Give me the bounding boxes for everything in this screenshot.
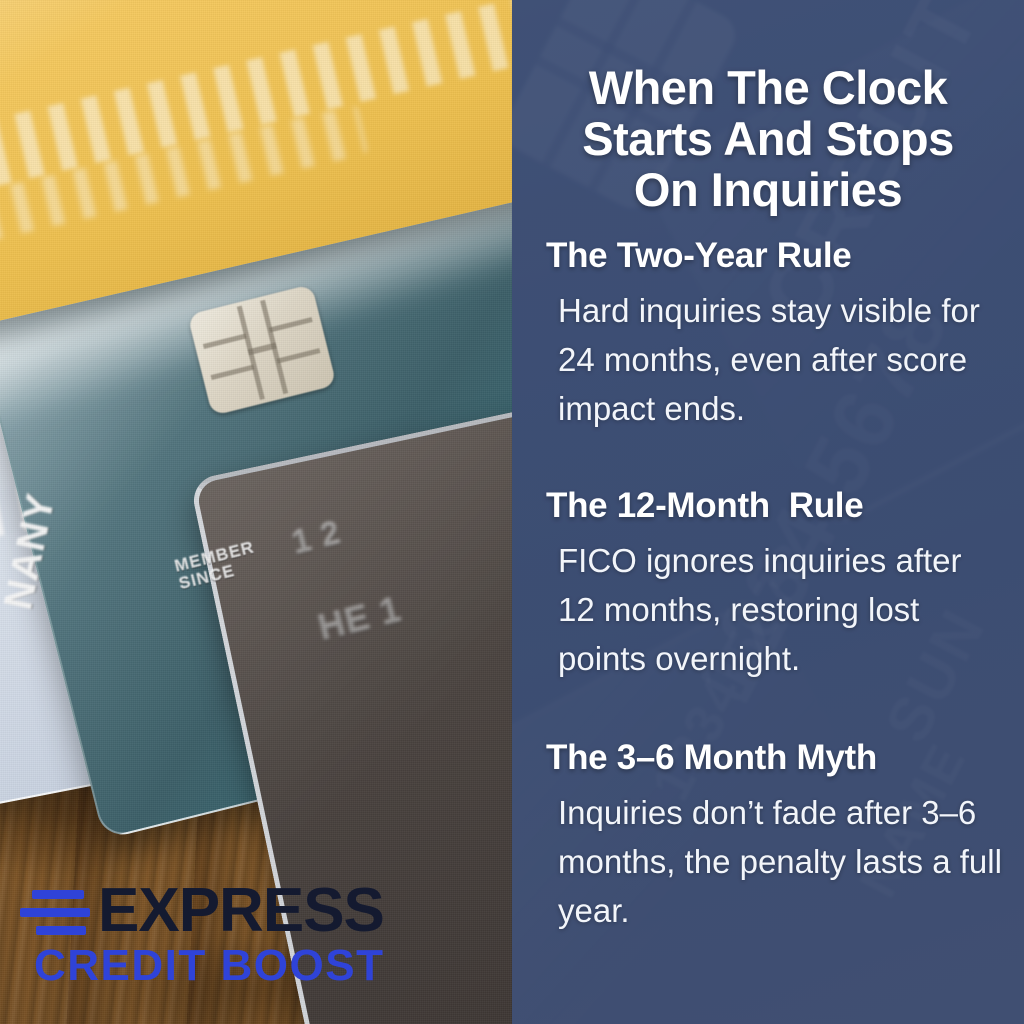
- section-heading: The Two-Year Rule: [546, 236, 1024, 275]
- brand-logo[interactable]: EXPRESS CREDIT BOOST: [20, 882, 420, 991]
- section-two-year-rule: The Two-Year Rule Hard inquiries stay vi…: [512, 236, 1024, 434]
- infographic-canvas: MEMBER SINCE 1 2 HE 1 NANY 34 EXPRESS CR…: [0, 0, 1024, 1024]
- section-twelve-month-rule: The 12-Month Rule FICO ignores inquiries…: [512, 486, 1024, 684]
- content-panel: CREDIT 1234 5678 1234 5678 SUN NAME When…: [512, 0, 1024, 1024]
- logo-primary-text: EXPRESS: [98, 882, 384, 939]
- section-body: FICO ignores inquiries after 12 months, …: [558, 537, 1006, 683]
- speed-lines-icon: [20, 886, 90, 935]
- logo-secondary-text: CREDIT BOOST: [34, 941, 420, 991]
- page-title: When The Clock Starts And Stops On Inqui…: [512, 63, 1024, 215]
- credit-cards-photo: MEMBER SINCE 1 2 HE 1 NANY 34: [0, 0, 512, 1024]
- section-three-six-month-myth: The 3–6 Month Myth Inquiries don’t fade …: [512, 738, 1024, 936]
- section-heading: The 3–6 Month Myth: [546, 738, 1024, 777]
- section-heading: The 12-Month Rule: [546, 486, 1024, 525]
- section-body: Hard inquiries stay visible for 24 month…: [558, 287, 1006, 433]
- section-body: Inquiries don’t fade after 3–6 months, t…: [558, 789, 1006, 935]
